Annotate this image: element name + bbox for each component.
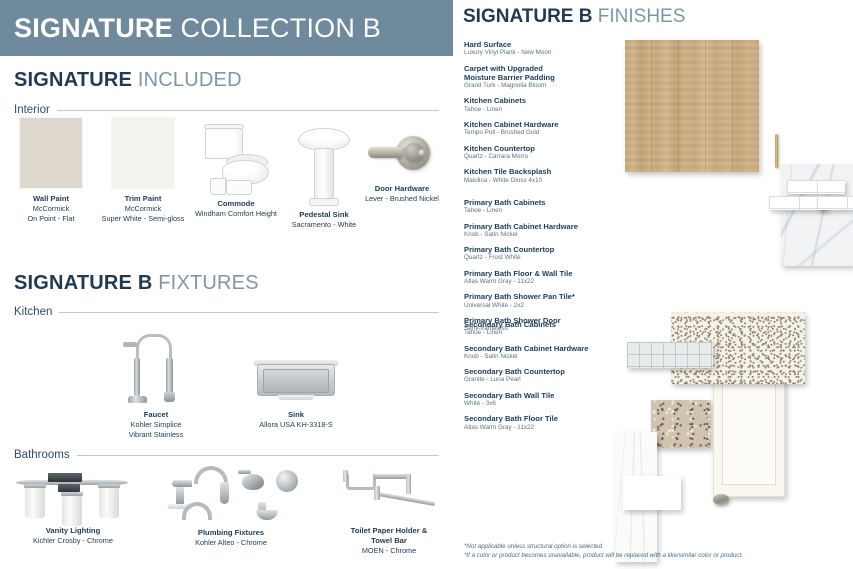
pedestal-sink-sub1: Sacramento - White bbox=[278, 220, 370, 230]
kitchen-sink-illustration bbox=[236, 352, 356, 408]
plumbing-fixtures-sub1: Kohler Alteo - Chrome bbox=[146, 538, 316, 548]
product-kitchen-sink: Sink Allora USA KH-3318-S bbox=[236, 352, 356, 430]
group-header-kitchen: Kitchen bbox=[14, 306, 439, 318]
tp-towel-bar-sub1: MOEN - Chrome bbox=[330, 546, 448, 556]
banner-title: SIGNATURE COLLECTION B bbox=[0, 13, 381, 44]
faucet-sub2: Vibrant Stainless bbox=[110, 430, 202, 440]
faucet-caption: Faucet Kohler Simplice Vibrant Stainless bbox=[110, 410, 202, 439]
section-title-included: SIGNATURE INCLUDED bbox=[14, 69, 242, 92]
pedestal-sink-name: Pedestal Sink bbox=[278, 210, 370, 220]
sample-kitchen-cabinet-pull bbox=[775, 134, 778, 168]
tp-towel-bar-name2: Towel Bar bbox=[330, 536, 448, 546]
kitchen-sink-name: Sink bbox=[236, 410, 356, 420]
sample-white-tile-3x6 bbox=[623, 476, 681, 510]
trim-paint-caption: Trim Paint McCormick Super White - Semi-… bbox=[92, 194, 194, 223]
wall-paint-sub2: On Point - Flat bbox=[12, 214, 90, 224]
product-trim-paint: Trim Paint McCormick Super White - Semi-… bbox=[92, 118, 194, 223]
faucet-name: Faucet bbox=[110, 410, 202, 420]
finish-title: Primary Bath Shower Pan Tile* bbox=[464, 292, 649, 301]
pedestal-sink-caption: Pedestal Sink Sacramento - White bbox=[278, 210, 370, 230]
group-label-bathrooms: Bathrooms bbox=[14, 449, 70, 461]
faucet-illustration bbox=[110, 330, 202, 408]
commode-caption: Commode Windham Comfort Height bbox=[186, 199, 286, 219]
commode-sub1: Windham Comfort Height bbox=[186, 209, 286, 219]
plumbing-fixtures-illustration bbox=[146, 462, 316, 526]
product-wall-paint: Wall Paint McCormick On Point - Flat bbox=[12, 118, 90, 223]
commode-name: Commode bbox=[186, 199, 286, 209]
plumbing-fixtures-name: Plumbing Fixtures bbox=[146, 528, 316, 538]
finishes-title-bold: SIGNATURE B bbox=[463, 6, 592, 27]
trim-paint-name: Trim Paint bbox=[92, 194, 194, 204]
trim-paint-sub2: Super White - Semi-gloss bbox=[92, 214, 194, 224]
sample-luxury-vinyl-plank bbox=[625, 40, 759, 172]
group-label-interior: Interior bbox=[14, 104, 50, 116]
section-title-fixtures-light: FIXTURES bbox=[158, 272, 259, 294]
faucet-sub1: Kohler Simplice bbox=[110, 420, 202, 430]
collection-banner: SIGNATURE COLLECTION B bbox=[0, 0, 453, 56]
vanity-lighting-sub1: Kichler Crosby - Chrome bbox=[8, 536, 138, 546]
group-rule-interior bbox=[57, 110, 439, 111]
wall-paint-sub1: McCormick bbox=[12, 204, 90, 214]
section-title-included-bold: SIGNATURE bbox=[14, 69, 132, 91]
sample-shower-pan-tile bbox=[627, 342, 713, 368]
group-rule-bathrooms bbox=[77, 455, 439, 456]
product-door-hardware: Door Hardware Lever - Brushed Nickel bbox=[356, 128, 448, 204]
bath-material-collage bbox=[603, 302, 853, 540]
door-hardware-caption: Door Hardware Lever - Brushed Nickel bbox=[356, 184, 448, 204]
tp-towel-bar-illustration bbox=[330, 462, 448, 524]
door-hardware-sub1: Lever - Brushed Nickel bbox=[356, 194, 448, 204]
wall-paint-name: Wall Paint bbox=[12, 194, 90, 204]
sample-backsplash-tile-c bbox=[817, 196, 853, 210]
group-header-interior: Interior bbox=[14, 104, 439, 116]
section-title-fixtures-bold: SIGNATURE B bbox=[14, 272, 153, 294]
kitchen-material-collage bbox=[621, 32, 853, 292]
footnote-structural-option: *Not applicable unless structural option… bbox=[464, 542, 849, 552]
trim-paint-swatch bbox=[112, 118, 174, 188]
commode-illustration bbox=[186, 118, 286, 196]
door-hardware-illustration bbox=[356, 128, 448, 182]
group-rule-kitchen bbox=[59, 312, 439, 313]
section-title-included-light: INCLUDED bbox=[138, 69, 242, 91]
trim-paint-sub1: McCormick bbox=[92, 204, 194, 214]
finishes-title: SIGNATURE B FINISHES bbox=[463, 6, 685, 28]
vanity-lighting-name: Vanity Lighting bbox=[8, 526, 138, 536]
left-column: SIGNATURE COLLECTION B SIGNATURE INCLUDE… bbox=[0, 0, 453, 569]
tp-towel-bar-caption: Toilet Paper Holder & Towel Bar MOEN - C… bbox=[330, 526, 448, 556]
product-vanity-lighting: Vanity Lighting Kichler Crosby - Chrome bbox=[8, 466, 138, 546]
sample-bath-cabinet-knob bbox=[713, 494, 729, 505]
product-tp-towel-bar: Toilet Paper Holder & Towel Bar MOEN - C… bbox=[330, 462, 448, 556]
kitchen-sink-caption: Sink Allora USA KH-3318-S bbox=[236, 410, 356, 430]
footnote-substitution: *If a color or product becomes unavailab… bbox=[464, 551, 849, 561]
tp-towel-bar-name: Toilet Paper Holder & bbox=[330, 526, 448, 536]
sample-backsplash-tile-a bbox=[787, 180, 845, 194]
section-title-fixtures: SIGNATURE B FIXTURES bbox=[14, 272, 259, 295]
wall-paint-swatch bbox=[20, 118, 82, 188]
group-label-kitchen: Kitchen bbox=[14, 306, 52, 318]
wall-paint-caption: Wall Paint McCormick On Point - Flat bbox=[12, 194, 90, 223]
kitchen-sink-sub1: Allora USA KH-3318-S bbox=[236, 420, 356, 430]
vanity-lighting-illustration bbox=[8, 466, 138, 522]
footnotes: *Not applicable unless structural option… bbox=[464, 542, 849, 561]
finishes-title-light: FINISHES bbox=[598, 6, 686, 27]
plumbing-fixtures-caption: Plumbing Fixtures Kohler Alteo - Chrome bbox=[146, 528, 316, 548]
product-commode: Commode Windham Comfort Height bbox=[186, 118, 286, 219]
group-header-bathrooms: Bathrooms bbox=[14, 449, 439, 461]
vanity-lighting-caption: Vanity Lighting Kichler Crosby - Chrome bbox=[8, 526, 138, 546]
right-column: SIGNATURE B FINISHES Hard Surface Luxury… bbox=[455, 0, 853, 569]
door-hardware-name: Door Hardware bbox=[356, 184, 448, 194]
product-plumbing-fixtures: Plumbing Fixtures Kohler Alteo - Chrome bbox=[146, 462, 316, 548]
product-faucet: Faucet Kohler Simplice Vibrant Stainless bbox=[110, 330, 202, 439]
collection-sheet: SIGNATURE COLLECTION B SIGNATURE INCLUDE… bbox=[0, 0, 853, 569]
banner-title-bold: SIGNATURE bbox=[14, 13, 173, 43]
banner-title-light: COLLECTION B bbox=[181, 13, 381, 43]
